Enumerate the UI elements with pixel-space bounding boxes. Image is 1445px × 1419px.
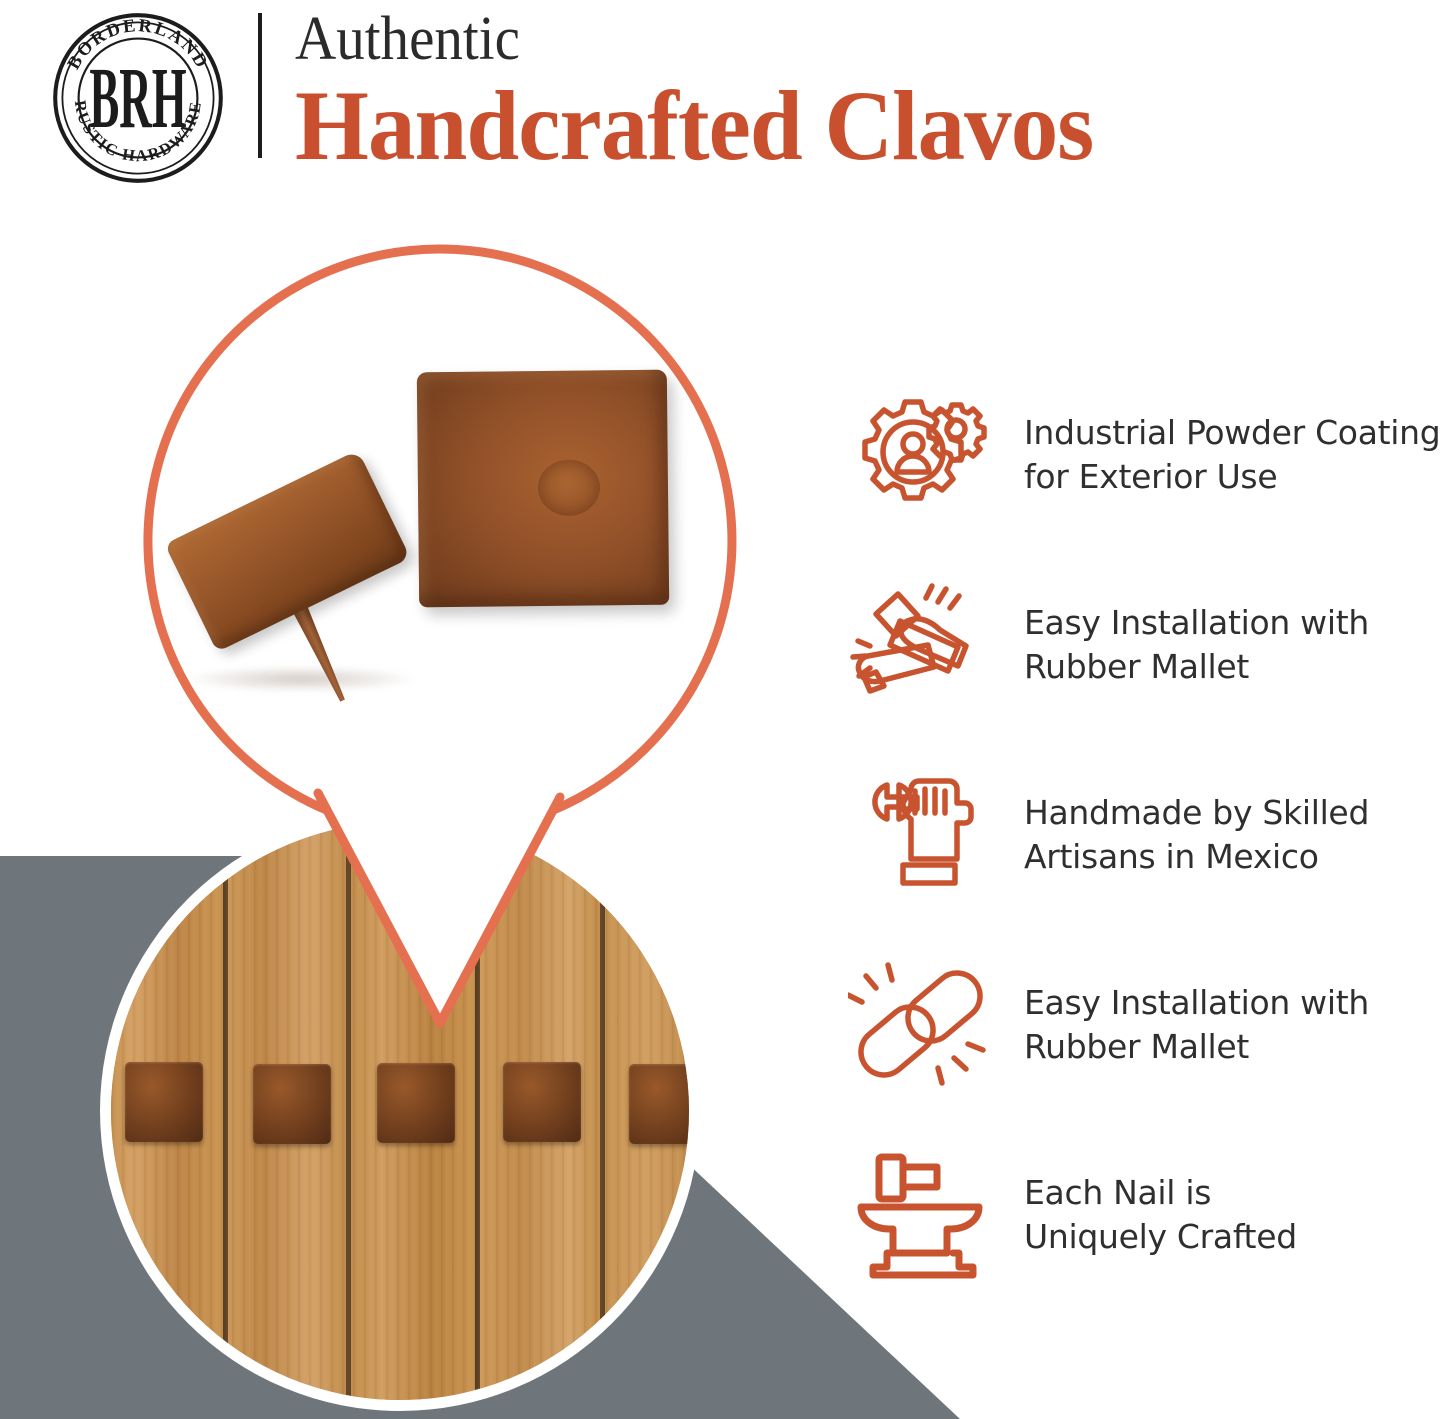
brand-logo: BORDERLAND RUSTIC HARDWARE BRH xyxy=(38,8,238,188)
clavo-angled-photo xyxy=(165,450,411,652)
feature-label: Industrial Powder Coating for Exterior U… xyxy=(1008,411,1440,499)
feature-line-1: Easy Installation with xyxy=(1024,601,1369,645)
feature-item: Easy Installation with Rubber Mallet xyxy=(838,550,1445,740)
feature-list: Industrial Powder Coating for Exterior U… xyxy=(838,360,1445,1310)
feature-label: Easy Installation with Rubber Mallet xyxy=(1008,981,1369,1069)
page-title: Handcrafted Clavos xyxy=(295,74,1093,178)
logo-monogram: BRH xyxy=(89,50,186,146)
feature-line-2: Rubber Mallet xyxy=(1024,645,1369,689)
feature-line-2: Uniquely Crafted xyxy=(1024,1215,1297,1259)
clavo-on-door xyxy=(253,1064,331,1144)
clavo-on-door xyxy=(125,1062,203,1142)
page-header: BORDERLAND RUSTIC HARDWARE BRH Authentic… xyxy=(0,0,1445,196)
feature-line-1: Industrial Powder Coating xyxy=(1024,411,1440,455)
clavo-shadow xyxy=(186,666,416,692)
wood-door-image xyxy=(111,822,689,1400)
header-divider xyxy=(258,13,262,158)
feature-item: Easy Installation with Rubber Mallet xyxy=(838,930,1445,1120)
clavo-on-door xyxy=(377,1063,455,1143)
feature-label: Handmade by Skilled Artisans in Mexico xyxy=(1008,791,1369,879)
borderland-rustic-hardware-seal-icon: BORDERLAND RUSTIC HARDWARE BRH xyxy=(48,8,228,188)
feature-line-1: Easy Installation with xyxy=(1024,981,1369,1025)
wood-door-photo xyxy=(100,811,700,1411)
clavo-on-door xyxy=(629,1064,689,1144)
title-block: Authentic Handcrafted Clavos xyxy=(295,6,1135,178)
feature-line-2: for Exterior Use xyxy=(1024,455,1440,499)
feature-line-1: Each Nail is xyxy=(1024,1171,1297,1215)
page-title-eyebrow: Authentic xyxy=(295,6,1068,72)
clavo-square-head-photo xyxy=(417,370,669,608)
anvil-hammer-icon xyxy=(838,1145,1008,1285)
feature-label: Each Nail is Uniquely Crafted xyxy=(1008,1171,1297,1259)
feature-line-1: Handmade by Skilled xyxy=(1024,791,1369,835)
feature-item: Each Nail is Uniquely Crafted xyxy=(838,1120,1445,1310)
gears-person-icon xyxy=(838,385,1008,525)
feature-line-2: Artisans in Mexico xyxy=(1024,835,1369,879)
feature-line-2: Rubber Mallet xyxy=(1024,1025,1369,1069)
clavo-on-door xyxy=(503,1062,581,1142)
feature-item: Industrial Powder Coating for Exterior U… xyxy=(838,360,1445,550)
feature-label: Easy Installation with Rubber Mallet xyxy=(1008,601,1369,689)
fist-wrench-icon xyxy=(838,765,1008,905)
product-imagery xyxy=(0,196,800,1419)
hand-mallet-icon xyxy=(838,575,1008,715)
chain-links-icon xyxy=(838,955,1008,1095)
feature-item: Handmade by Skilled Artisans in Mexico xyxy=(838,740,1445,930)
